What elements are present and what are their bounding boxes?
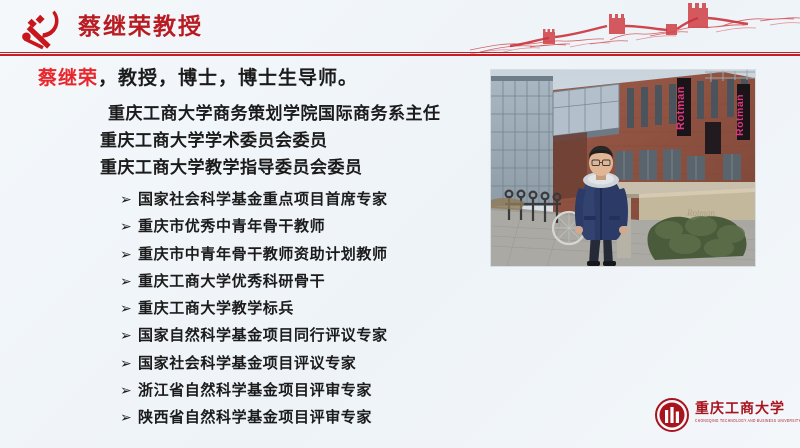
- list-item: ➢浙江省自然科学基金项目评审专家: [120, 377, 500, 404]
- list-item-label: 国家社会科学基金项目评议专家: [138, 355, 356, 372]
- arrow-bullet-icon: ➢: [120, 186, 138, 212]
- role-list: 重庆工商大学商务策划学院国际商务系主任 重庆工商大学学术委员会委员 重庆工商大学…: [100, 100, 490, 181]
- university-logo-text: 重庆工商大学 CHONGQING TECHNOLOGY AND BUSINESS…: [695, 400, 787, 424]
- person-titles: ，教授，博士，博士生导师。: [98, 68, 358, 89]
- list-item: ➢陕西省自然科学基金项目评审专家: [120, 404, 500, 431]
- list-item-label: 浙江省自然科学基金项目评审专家: [138, 382, 372, 399]
- list-item-label: 重庆市优秀中青年骨干教师: [138, 218, 325, 235]
- list-item: ➢国家自然科学基金项目同行评议专家: [120, 322, 500, 349]
- arrow-bullet-icon: ➢: [120, 350, 138, 376]
- role-line: 重庆工商大学商务策划学院国际商务系主任: [100, 100, 490, 127]
- list-item: ➢国家社会科学基金项目评议专家: [120, 350, 500, 377]
- arrow-bullet-icon: ➢: [120, 213, 138, 239]
- university-name-cn: 重庆工商大学: [695, 400, 787, 417]
- slide-header: 蔡继荣教授: [0, 0, 800, 58]
- list-item-label: 国家自然科学基金项目同行评议专家: [138, 327, 388, 344]
- person-name: 蔡继荣: [38, 68, 98, 89]
- person-intro-line: 蔡继荣，教授，博士，博士生导师。: [38, 66, 358, 92]
- list-item: ➢重庆市优秀中青年骨干教师: [120, 213, 500, 240]
- arrow-bullet-icon: ➢: [120, 268, 138, 294]
- header-divider: [0, 52, 800, 56]
- arrow-bullet-icon: ➢: [120, 404, 138, 430]
- page-title: 蔡继荣教授: [78, 9, 203, 43]
- arrow-bullet-icon: ➢: [120, 322, 138, 348]
- party-hammer-sickle-emblem-icon: [14, 6, 70, 50]
- university-logo: 重庆工商大学 CHONGQING TECHNOLOGY AND BUSINESS…: [655, 396, 787, 438]
- list-item-label: 国家社会科学基金重点项目首席专家: [138, 191, 388, 208]
- great-wall-illustration-icon: [470, 0, 800, 54]
- arrow-bullet-icon: ➢: [120, 295, 138, 321]
- university-seal-icon: [655, 398, 689, 432]
- list-item-label: 陕西省自然科学基金项目评审专家: [138, 409, 372, 426]
- arrow-bullet-icon: ➢: [120, 241, 138, 267]
- role-line: 重庆工商大学教学指导委员会委员: [100, 154, 490, 181]
- list-item: ➢重庆工商大学教学标兵: [120, 295, 500, 322]
- honor-list: ➢国家社会科学基金重点项目首席专家 ➢重庆市优秀中青年骨干教师 ➢重庆市中青年骨…: [120, 186, 500, 432]
- arrow-bullet-icon: ➢: [120, 377, 138, 403]
- svg-text:Rotman: Rotman: [734, 94, 746, 136]
- list-item: ➢重庆市中青年骨干教师资助计划教师: [120, 241, 500, 268]
- list-item-label: 重庆工商大学教学标兵: [138, 300, 294, 317]
- svg-text:Rotman: Rotman: [675, 86, 687, 130]
- portrait-photo: Rotman Rotman: [491, 70, 755, 266]
- university-name-en: CHONGQING TECHNOLOGY AND BUSINESS UNIVER…: [695, 417, 787, 426]
- list-item: ➢国家社会科学基金重点项目首席专家: [120, 186, 500, 213]
- list-item-label: 重庆工商大学优秀科研骨干: [138, 273, 325, 290]
- list-item: ➢重庆工商大学优秀科研骨干: [120, 268, 500, 295]
- slide: 蔡继荣教授: [0, 0, 800, 448]
- role-line: 重庆工商大学学术委员会委员: [100, 127, 490, 154]
- list-item-label: 重庆市中青年骨干教师资助计划教师: [138, 246, 388, 263]
